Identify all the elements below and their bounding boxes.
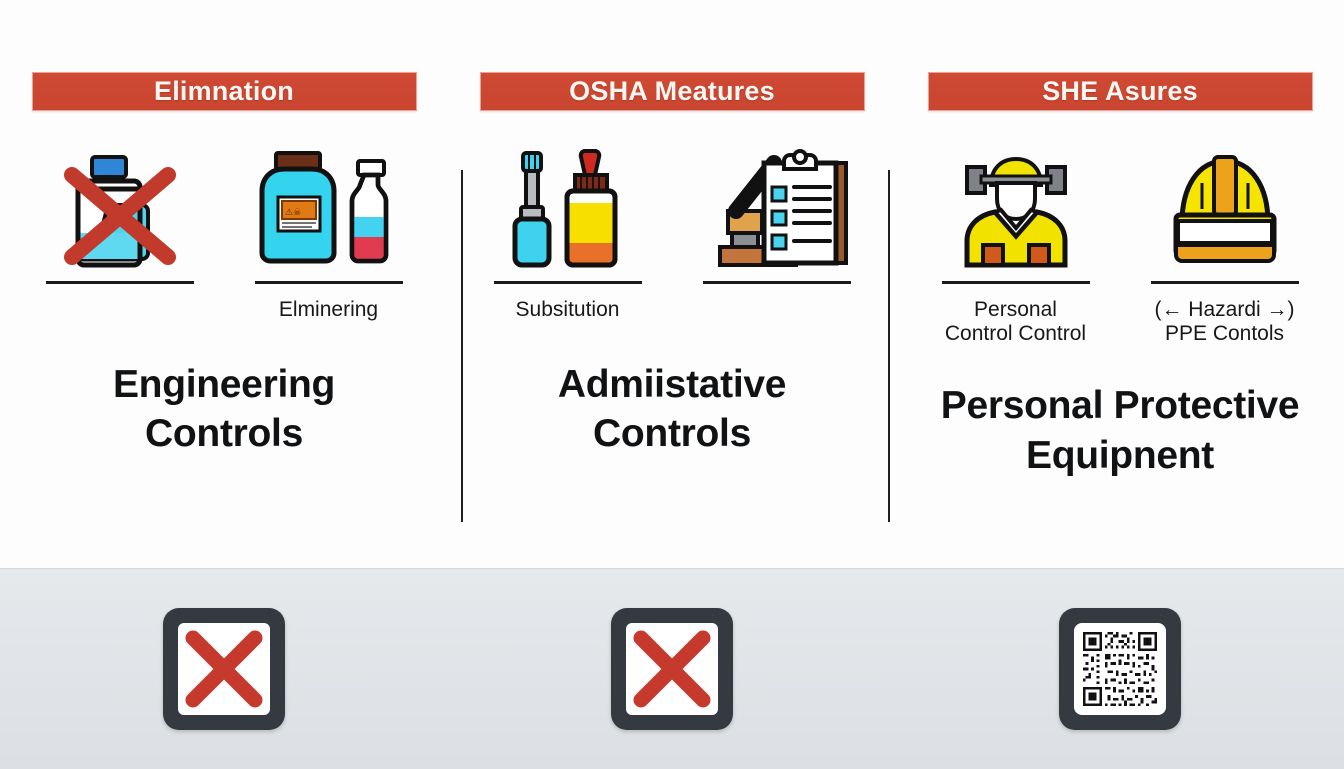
icon-row-2: Subsitution: [448, 149, 896, 324]
banner-label: SHE Asures: [1042, 76, 1198, 107]
icon-divider: [255, 281, 403, 284]
banner-osha-measures: OSHA Meatures: [480, 72, 865, 111]
column-osha-measures: OSHA Meatures: [448, 0, 896, 568]
bottom-col-3: [896, 569, 1344, 769]
red-x-tile-center[interactable]: [611, 608, 733, 730]
icon-caption: Subsitution: [516, 298, 620, 324]
clipboard-checklist-icon: [702, 149, 852, 269]
safety-worker-icon: [941, 149, 1091, 269]
icon-cell-3-1: Personal Control Control: [933, 149, 1098, 345]
icon-row-3: Personal Control Control: [896, 149, 1344, 345]
infographic-root: Elimnation: [0, 0, 1344, 768]
icon-cell-1-2: ⚠☠: [246, 149, 411, 324]
icon-cell-2-2: [694, 149, 859, 324]
qr-code-tile-right[interactable]: [1059, 608, 1181, 730]
icon-divider: [46, 281, 194, 284]
column-title: Personal Protective Equipnent: [941, 381, 1299, 479]
bottom-bar: [0, 568, 1344, 769]
bottom-col-1: [0, 569, 448, 769]
column-title: Engineering Controls: [113, 360, 335, 458]
crossed-out-chemical-container-icon: [45, 149, 195, 269]
icon-divider: [494, 281, 642, 284]
icon-caption: Personal Control Control: [945, 298, 1086, 345]
hard-hat-icon: [1150, 149, 1300, 269]
banner-she-assures: SHE Asures: [928, 72, 1313, 111]
column-title: Admiistative Controls: [558, 360, 786, 458]
red-x-icon: [626, 623, 718, 715]
red-x-icon: [178, 623, 270, 715]
icon-caption: Elminering: [279, 298, 378, 324]
column-elimination: Elimnation: [0, 0, 448, 568]
icon-divider: [942, 281, 1090, 284]
chemical-bottles-icon: ⚠☠: [254, 149, 404, 269]
qr-code-icon: [1074, 623, 1166, 715]
column-divider-2: [888, 170, 890, 522]
column-divider-1: [461, 170, 463, 522]
icon-divider: [703, 281, 851, 284]
icon-cell-3-2: (← Hazardi →) PPE Contols: [1142, 149, 1307, 345]
svg-text:⚠☠: ⚠☠: [285, 207, 301, 217]
top-panel: Elimnation: [0, 0, 1344, 568]
spray-tool-and-dropper-bottle-icon: [493, 149, 643, 269]
icon-caption: (← Hazardi →) PPE Contols: [1154, 298, 1294, 345]
banner-label: Elimnation: [154, 76, 294, 107]
icon-cell-2-1: Subsitution: [485, 149, 650, 324]
bottom-col-2: [448, 569, 896, 769]
icon-row-1: ⚠☠: [0, 149, 448, 324]
icon-divider: [1151, 281, 1299, 284]
icon-cell-1-1: [37, 149, 202, 324]
banner-elimination: Elimnation: [32, 72, 417, 111]
banner-label: OSHA Meatures: [569, 76, 775, 107]
red-x-tile-left[interactable]: [163, 608, 285, 730]
column-she-assures: SHE Asures: [896, 0, 1344, 568]
